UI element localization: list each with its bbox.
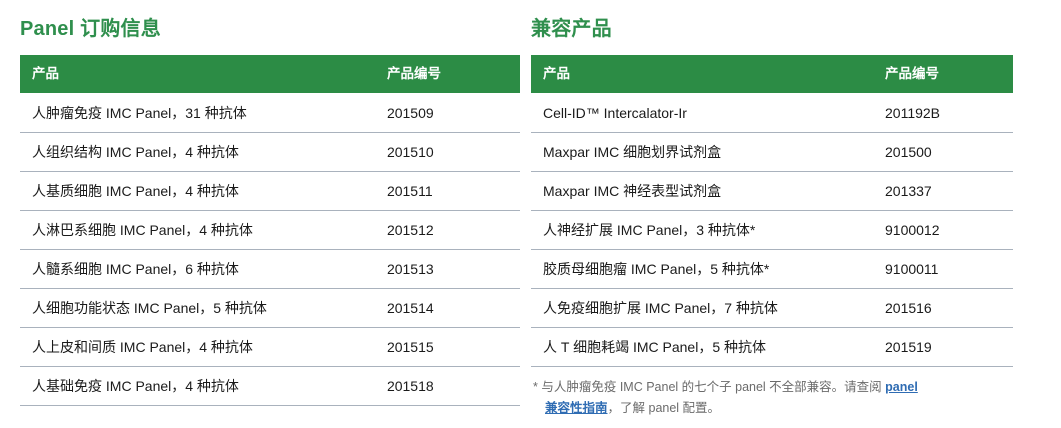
column-header-product-number: 产品编号 [375, 55, 520, 93]
table-row: 人淋巴系细胞 IMC Panel，4 种抗体 201512 [20, 211, 520, 250]
table-header-row: 产品 产品编号 [531, 55, 1013, 93]
cell-product-name: 人上皮和间质 IMC Panel，4 种抗体 [20, 328, 375, 367]
cell-product-name: Maxpar IMC 细胞划界试剂盒 [531, 133, 873, 172]
column-header-product: 产品 [20, 55, 375, 93]
table-row: 人神经扩展 IMC Panel，3 种抗体* 9100012 [531, 211, 1013, 250]
table-row: 人免疫细胞扩展 IMC Panel，7 种抗体 201516 [531, 289, 1013, 328]
cell-product-number: 201511 [375, 172, 520, 211]
cell-product-name: 人细胞功能状态 IMC Panel，5 种抗体 [20, 289, 375, 328]
column-header-product: 产品 [531, 55, 873, 93]
cell-product-name: 人组织结构 IMC Panel，4 种抗体 [20, 133, 375, 172]
cell-product-name: 人髓系细胞 IMC Panel，6 种抗体 [20, 250, 375, 289]
ordering-information-page: Panel 订购信息 产品 产品编号 人肿瘤免疫 IMC Panel，31 种抗… [0, 0, 1061, 428]
table-row: 胶质母细胞瘤 IMC Panel，5 种抗体* 9100011 [531, 250, 1013, 289]
compatible-products-table: 产品 产品编号 Cell-ID™ Intercalator-Ir 201192B… [531, 55, 1013, 367]
cell-product-number: 201519 [873, 328, 1013, 367]
table-row: Maxpar IMC 细胞划界试剂盒 201500 [531, 133, 1013, 172]
cell-product-name: 人基质细胞 IMC Panel，4 种抗体 [20, 172, 375, 211]
cell-product-number: 201512 [375, 211, 520, 250]
table-row: 人上皮和间质 IMC Panel，4 种抗体 201515 [20, 328, 520, 367]
table-row: Cell-ID™ Intercalator-Ir 201192B [531, 93, 1013, 133]
panel-ordering-table: 产品 产品编号 人肿瘤免疫 IMC Panel，31 种抗体 201509 人组… [20, 55, 520, 406]
table-row: 人 T 细胞耗竭 IMC Panel，5 种抗体 201519 [531, 328, 1013, 367]
panel-ordering-column: Panel 订购信息 产品 产品编号 人肿瘤免疫 IMC Panel，31 种抗… [0, 0, 520, 428]
footnote-text-part2: ，了解 panel 配置。 [608, 401, 721, 415]
cell-product-number: 9100011 [873, 250, 1013, 289]
cell-product-name: 人免疫细胞扩展 IMC Panel，7 种抗体 [531, 289, 873, 328]
panel-compatibility-guide-link-2[interactable]: 兼容性指南 [545, 401, 608, 415]
table-row: 人基质细胞 IMC Panel，4 种抗体 201511 [20, 172, 520, 211]
column-header-product-number: 产品编号 [873, 55, 1013, 93]
table-row: 人细胞功能状态 IMC Panel，5 种抗体 201514 [20, 289, 520, 328]
panel-compatibility-guide-link-1[interactable]: panel [885, 380, 918, 394]
table-body: Cell-ID™ Intercalator-Ir 201192B Maxpar … [531, 93, 1013, 367]
cell-product-number: 201337 [873, 172, 1013, 211]
table-row: 人髓系细胞 IMC Panel，6 种抗体 201513 [20, 250, 520, 289]
cell-product-number: 201509 [375, 93, 520, 133]
table-row: 人肿瘤免疫 IMC Panel，31 种抗体 201509 [20, 93, 520, 133]
table-head: 产品 产品编号 [531, 55, 1013, 93]
footnote: * 与人肿瘤免疫 IMC Panel 的七个子 panel 不全部兼容。请查阅 … [531, 377, 1013, 419]
compatible-products-column: 兼容产品 产品 产品编号 Cell-ID™ Intercalator-Ir 20… [520, 0, 1061, 428]
cell-product-name: 胶质母细胞瘤 IMC Panel，5 种抗体* [531, 250, 873, 289]
table-header-row: 产品 产品编号 [20, 55, 520, 93]
cell-product-name: 人淋巴系细胞 IMC Panel，4 种抗体 [20, 211, 375, 250]
cell-product-name: Maxpar IMC 神经表型试剂盒 [531, 172, 873, 211]
page-title-left: Panel 订购信息 [20, 15, 520, 43]
cell-product-name: 人肿瘤免疫 IMC Panel，31 种抗体 [20, 93, 375, 133]
cell-product-number: 201510 [375, 133, 520, 172]
table-row: 人基础免疫 IMC Panel，4 种抗体 201518 [20, 367, 520, 406]
cell-product-name: Cell-ID™ Intercalator-Ir [531, 93, 873, 133]
footnote-text-part1: 与人肿瘤免疫 IMC Panel 的七个子 panel 不全部兼容。请查阅 [538, 380, 885, 394]
table-row: Maxpar IMC 神经表型试剂盒 201337 [531, 172, 1013, 211]
cell-product-number: 201518 [375, 367, 520, 406]
table-body: 人肿瘤免疫 IMC Panel，31 种抗体 201509 人组织结构 IMC … [20, 93, 520, 406]
cell-product-number: 201513 [375, 250, 520, 289]
cell-product-number: 201192B [873, 93, 1013, 133]
cell-product-number: 201514 [375, 289, 520, 328]
cell-product-name: 人神经扩展 IMC Panel，3 种抗体* [531, 211, 873, 250]
cell-product-number: 201515 [375, 328, 520, 367]
footnote-line-2: 兼容性指南，了解 panel 配置。 [533, 398, 1013, 419]
cell-product-name: 人 T 细胞耗竭 IMC Panel，5 种抗体 [531, 328, 873, 367]
page-title-right: 兼容产品 [531, 15, 1013, 43]
cell-product-number: 201516 [873, 289, 1013, 328]
table-head: 产品 产品编号 [20, 55, 520, 93]
table-row: 人组织结构 IMC Panel，4 种抗体 201510 [20, 133, 520, 172]
cell-product-number: 201500 [873, 133, 1013, 172]
cell-product-name: 人基础免疫 IMC Panel，4 种抗体 [20, 367, 375, 406]
cell-product-number: 9100012 [873, 211, 1013, 250]
